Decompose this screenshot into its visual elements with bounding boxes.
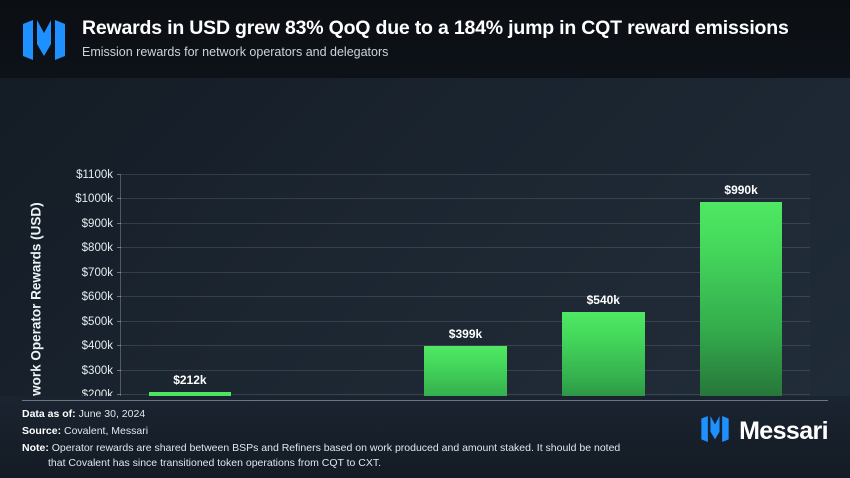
y-axis-title-text: Network Operator Rewards (USD) — [29, 202, 44, 417]
page-subtitle: Emission rewards for network operators a… — [82, 44, 832, 60]
chart-screenshot: Rewards in USD grew 83% QoQ due to a 184… — [0, 0, 850, 478]
chart-container: Network Operator Rewards (USD) $0k$100k$… — [0, 78, 850, 396]
data-as-of-value: June 30, 2024 — [76, 408, 145, 420]
page-title: Rewards in USD grew 83% QoQ due to a 184… — [82, 16, 832, 40]
note-value-line1: Operator rewards are shared between BSPs… — [49, 442, 620, 454]
note-value-line2: that Covalent has since transitioned tok… — [22, 456, 672, 471]
note-line: Note: Operator rewards are shared betwee… — [22, 441, 672, 456]
y-axis-tick-label: $600k — [82, 291, 113, 303]
messari-wordmark: Messari — [739, 419, 828, 444]
note-label: Note: — [22, 442, 49, 454]
title-block: Rewards in USD grew 83% QoQ due to a 184… — [82, 16, 832, 60]
footer-text: Data as of: June 30, 2024 Source: Covale… — [22, 407, 672, 471]
y-axis-tick-label: $700k — [82, 267, 113, 279]
bar-value-label: $399k — [397, 327, 535, 341]
bar-value-label: $212k — [121, 373, 259, 387]
footer-brand: Messari — [700, 416, 828, 447]
footer-divider — [22, 400, 828, 401]
messari-logo-mark-icon-small — [700, 416, 730, 447]
y-axis-tick-label: $400k — [82, 340, 113, 352]
source-line: Source: Covalent, Messari — [22, 424, 672, 439]
data-as-of-line: Data as of: June 30, 2024 — [22, 407, 672, 422]
y-axis-tick-label: $900k — [82, 218, 113, 230]
source-value: Covalent, Messari — [61, 425, 148, 437]
source-label: Source: — [22, 425, 61, 437]
y-axis-tick-label: $800k — [82, 242, 113, 254]
y-axis-tick-label: $500k — [82, 316, 113, 328]
messari-logo-mark-icon — [22, 20, 66, 60]
bar-value-label: $540k — [534, 293, 672, 307]
footer: Data as of: June 30, 2024 Source: Covale… — [0, 396, 850, 478]
data-as-of-label: Data as of: — [22, 408, 76, 420]
header: Rewards in USD grew 83% QoQ due to a 184… — [0, 0, 850, 78]
y-axis-tick-label: $300k — [82, 365, 113, 377]
bar-value-label: $990k — [672, 183, 810, 197]
y-axis-tick-label: $1100k — [76, 169, 113, 181]
y-axis-tick-label: $1000k — [75, 193, 113, 205]
